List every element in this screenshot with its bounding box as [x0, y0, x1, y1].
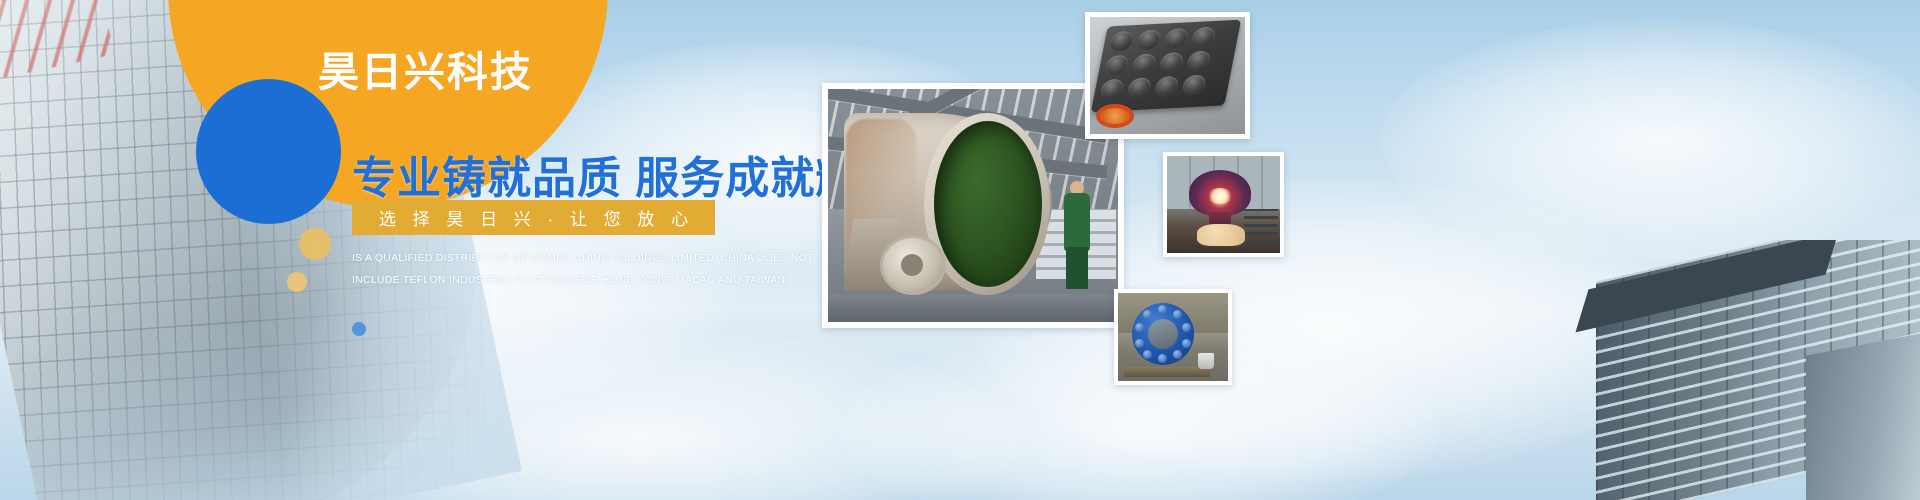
- photo-infrared-heat-lamp: [1163, 152, 1284, 257]
- gold-dot-decoration-small: [287, 272, 307, 292]
- tank-green-coating-interior: [934, 121, 1042, 287]
- holding-hand: [1197, 224, 1245, 246]
- bolt-hole: [1182, 339, 1191, 348]
- tray-cup: [1154, 76, 1180, 97]
- bolt-hole: [1135, 339, 1144, 348]
- bolt-hole: [1173, 310, 1182, 319]
- legal-line-2: INCLUDE TEFLON INDUSTRIAL COATINGS FOR H…: [352, 270, 752, 292]
- flange-photo-content: [1118, 293, 1228, 381]
- flange-bolt-holes: [1132, 303, 1194, 365]
- tray-cup: [1126, 77, 1152, 98]
- photo-nonstick-muffin-tray: [1085, 12, 1250, 139]
- hero-banner: 昊日兴科技 专业铸就品质 服务成就辉煌 选 择 昊 日 兴 · 让 您 放 心 …: [0, 0, 1920, 500]
- bolt-hole: [1173, 350, 1182, 359]
- paint-bucket: [1198, 353, 1214, 369]
- tray-cup: [1136, 29, 1162, 50]
- legal-line-1: IS A QUALIFIED DISTRIBUTOR OF COMUS CHIN…: [352, 248, 752, 270]
- photo-coated-industrial-tank: [822, 83, 1124, 328]
- tray-cup: [1158, 52, 1184, 73]
- tower-secondary-block: [1806, 332, 1920, 500]
- lamp-photo-content: [1167, 156, 1280, 253]
- red-coated-ring-sample: [1096, 104, 1134, 128]
- blue-dot-decoration: [352, 322, 366, 336]
- right-tower-image: [1560, 240, 1920, 500]
- lamp-filament-glow: [1207, 188, 1233, 204]
- tagline-bar: 选 择 昊 日 兴 · 让 您 放 心: [352, 200, 715, 235]
- tray-cup: [1186, 50, 1212, 71]
- bolt-hole: [1135, 323, 1144, 332]
- legal-disclaimer: IS A QUALIFIED DISTRIBUTOR OF COMUS CHIN…: [352, 248, 752, 291]
- baking-tray-cups: [1098, 26, 1221, 104]
- tank-photo-content: [828, 89, 1118, 322]
- bolt-hole: [1143, 350, 1152, 359]
- tray-photo-content: [1090, 17, 1245, 134]
- worker-legs: [1066, 247, 1088, 289]
- tank-side-flange: [880, 235, 946, 295]
- tray-cup: [1104, 55, 1130, 76]
- wooden-pallet: [1124, 367, 1210, 377]
- tagline-text: 选 择 昊 日 兴 · 让 您 放 心: [373, 205, 694, 230]
- room-chair: [1244, 209, 1278, 243]
- tray-cup: [1190, 26, 1216, 47]
- tray-cup: [1131, 53, 1157, 74]
- brand-name: 昊日兴科技: [318, 52, 533, 93]
- blue-circle-decoration: [196, 79, 341, 224]
- tray-cup: [1181, 74, 1207, 95]
- factory-worker: [1062, 181, 1092, 289]
- tray-cup: [1099, 79, 1125, 100]
- bolt-hole: [1158, 305, 1167, 314]
- tray-cup: [1109, 31, 1135, 52]
- bolt-hole: [1143, 310, 1152, 319]
- worker-uniform: [1064, 193, 1090, 251]
- tray-cup: [1163, 28, 1189, 49]
- factory-floor: [828, 294, 1118, 322]
- cloud-decoration: [1380, 20, 1920, 260]
- bolt-hole: [1158, 354, 1167, 363]
- bolt-hole: [1182, 323, 1191, 332]
- photo-blue-coated-flange: [1114, 289, 1232, 385]
- gold-dot-decoration: [299, 228, 331, 260]
